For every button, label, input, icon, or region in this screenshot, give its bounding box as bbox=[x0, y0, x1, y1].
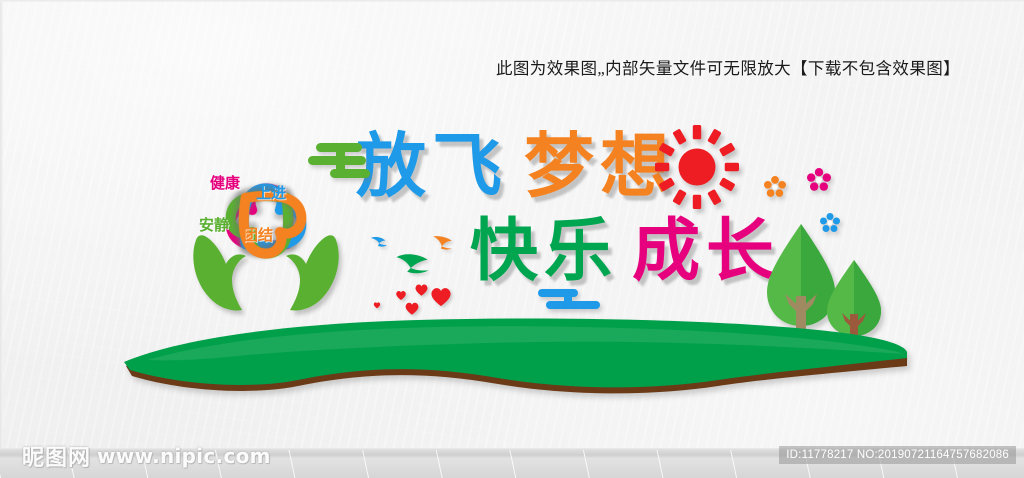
mini-flower-magenta bbox=[807, 168, 831, 197]
bird-icon bbox=[394, 250, 430, 274]
wall-edge-top bbox=[0, 0, 1024, 2]
cloud-stripes-icon bbox=[308, 141, 370, 181]
bird-orange bbox=[432, 234, 454, 256]
wall-edge-left bbox=[0, 0, 3, 450]
watermark: 昵图网 www.nipic.com bbox=[22, 440, 271, 472]
mini-flower-orange bbox=[764, 176, 786, 203]
watermark-brand: 昵图网 bbox=[22, 440, 91, 472]
poster-canvas: 此图为效果图„内部矢量文件可无限放大【下载不包含效果图】 健康 上进 团结 安静 bbox=[0, 0, 1024, 478]
petal-label-health: 健康 bbox=[210, 172, 240, 193]
heart-tiny bbox=[373, 296, 381, 314]
flower-icon bbox=[764, 176, 786, 198]
heart-icon bbox=[414, 282, 429, 297]
heart-icon bbox=[373, 301, 381, 309]
bird-green bbox=[394, 250, 430, 279]
sun-icon bbox=[655, 125, 739, 209]
flower-icon bbox=[807, 168, 831, 192]
heart-icon bbox=[429, 284, 453, 308]
petal-label-unity: 团结 bbox=[243, 224, 273, 245]
bird-blue bbox=[370, 235, 388, 254]
headline-kuaile: 快乐 bbox=[470, 212, 618, 291]
heart-medium bbox=[414, 282, 429, 302]
hill-shape bbox=[118, 318, 908, 408]
disclaimer-text: 此图为效果图„内部矢量文件可无限放大【下载不包含效果图】 bbox=[496, 55, 976, 79]
heart-large bbox=[429, 284, 453, 313]
petal-label-quiet: 安静 bbox=[199, 214, 229, 235]
stripes-green-decoration bbox=[308, 141, 370, 186]
cloud-stripes-icon bbox=[538, 287, 600, 317]
heart-icon bbox=[404, 300, 420, 316]
headline-line-1: 放飞梦想 bbox=[356, 129, 676, 203]
petal-label-aspiring: 上进 bbox=[256, 182, 286, 203]
stripes-blue-decoration bbox=[538, 287, 600, 322]
image-id-badge: ID:11778217 NO:20190721164757682086 bbox=[779, 446, 1016, 464]
bird-icon bbox=[432, 234, 454, 251]
green-hill bbox=[118, 318, 908, 408]
watermark-url: www.nipic.com bbox=[97, 444, 271, 468]
headline-mengxiang: 梦想 bbox=[524, 125, 676, 207]
headline-chengzhang: 成长 bbox=[632, 212, 780, 291]
bird-icon bbox=[370, 235, 388, 249]
headline-fangfei: 放飞 bbox=[356, 125, 508, 207]
headline-line-2: 快乐成长 bbox=[470, 216, 780, 288]
